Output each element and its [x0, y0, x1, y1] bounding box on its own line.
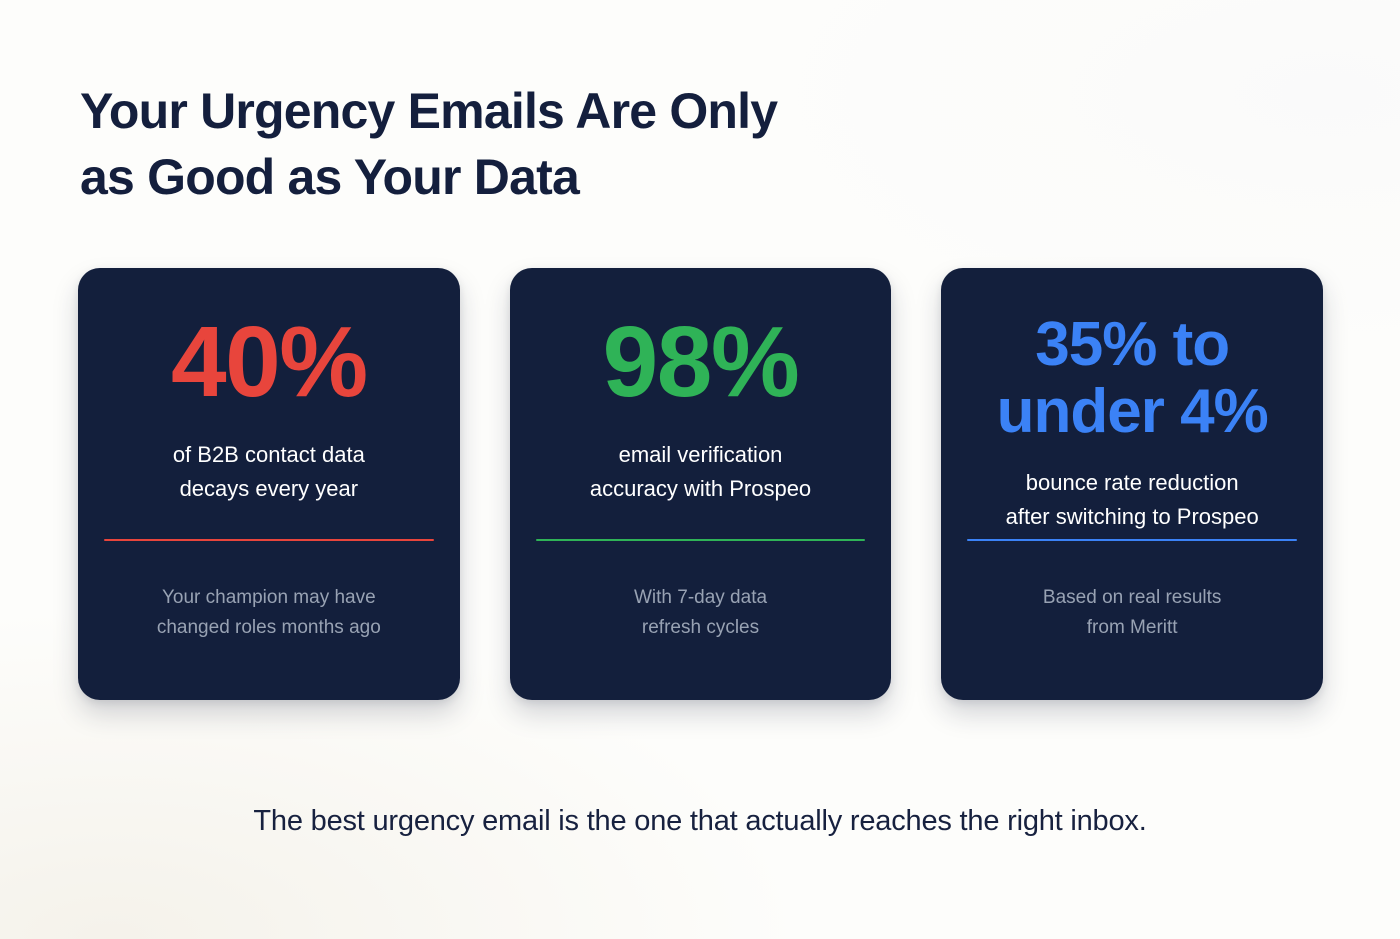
stat-label: bounce rate reduction after switching to…	[1006, 466, 1259, 534]
stat-label: of B2B contact data decays every year	[173, 438, 365, 506]
stat-footnote: Based on real results from Meritt	[1043, 541, 1222, 660]
footer-note: The best urgency email is the one that a…	[0, 805, 1400, 838]
stat-label: email verification accuracy with Prospeo	[590, 438, 811, 506]
page-title: Your Urgency Emails Are Only as Good as …	[80, 78, 980, 210]
stat-value: 40%	[171, 312, 367, 412]
stat-card: 35% to under 4% bounce rate reduction af…	[941, 268, 1323, 700]
stat-card-row: 40% of B2B contact data decays every yea…	[78, 268, 1323, 700]
stat-card-bottom: With 7-day data refresh cycles	[536, 539, 866, 660]
infographic-stage: Your Urgency Emails Are Only as Good as …	[0, 0, 1400, 939]
stat-footnote: Your champion may have changed roles mon…	[157, 541, 381, 660]
stat-card: 98% email verification accuracy with Pro…	[510, 268, 892, 700]
stat-value: 98%	[603, 312, 799, 412]
stat-value: 35% to under 4%	[967, 312, 1297, 446]
stat-card-bottom: Your champion may have changed roles mon…	[104, 539, 434, 660]
stat-card: 40% of B2B contact data decays every yea…	[78, 268, 460, 700]
stat-footnote: With 7-day data refresh cycles	[634, 541, 767, 660]
stat-card-bottom: Based on real results from Meritt	[967, 539, 1297, 660]
